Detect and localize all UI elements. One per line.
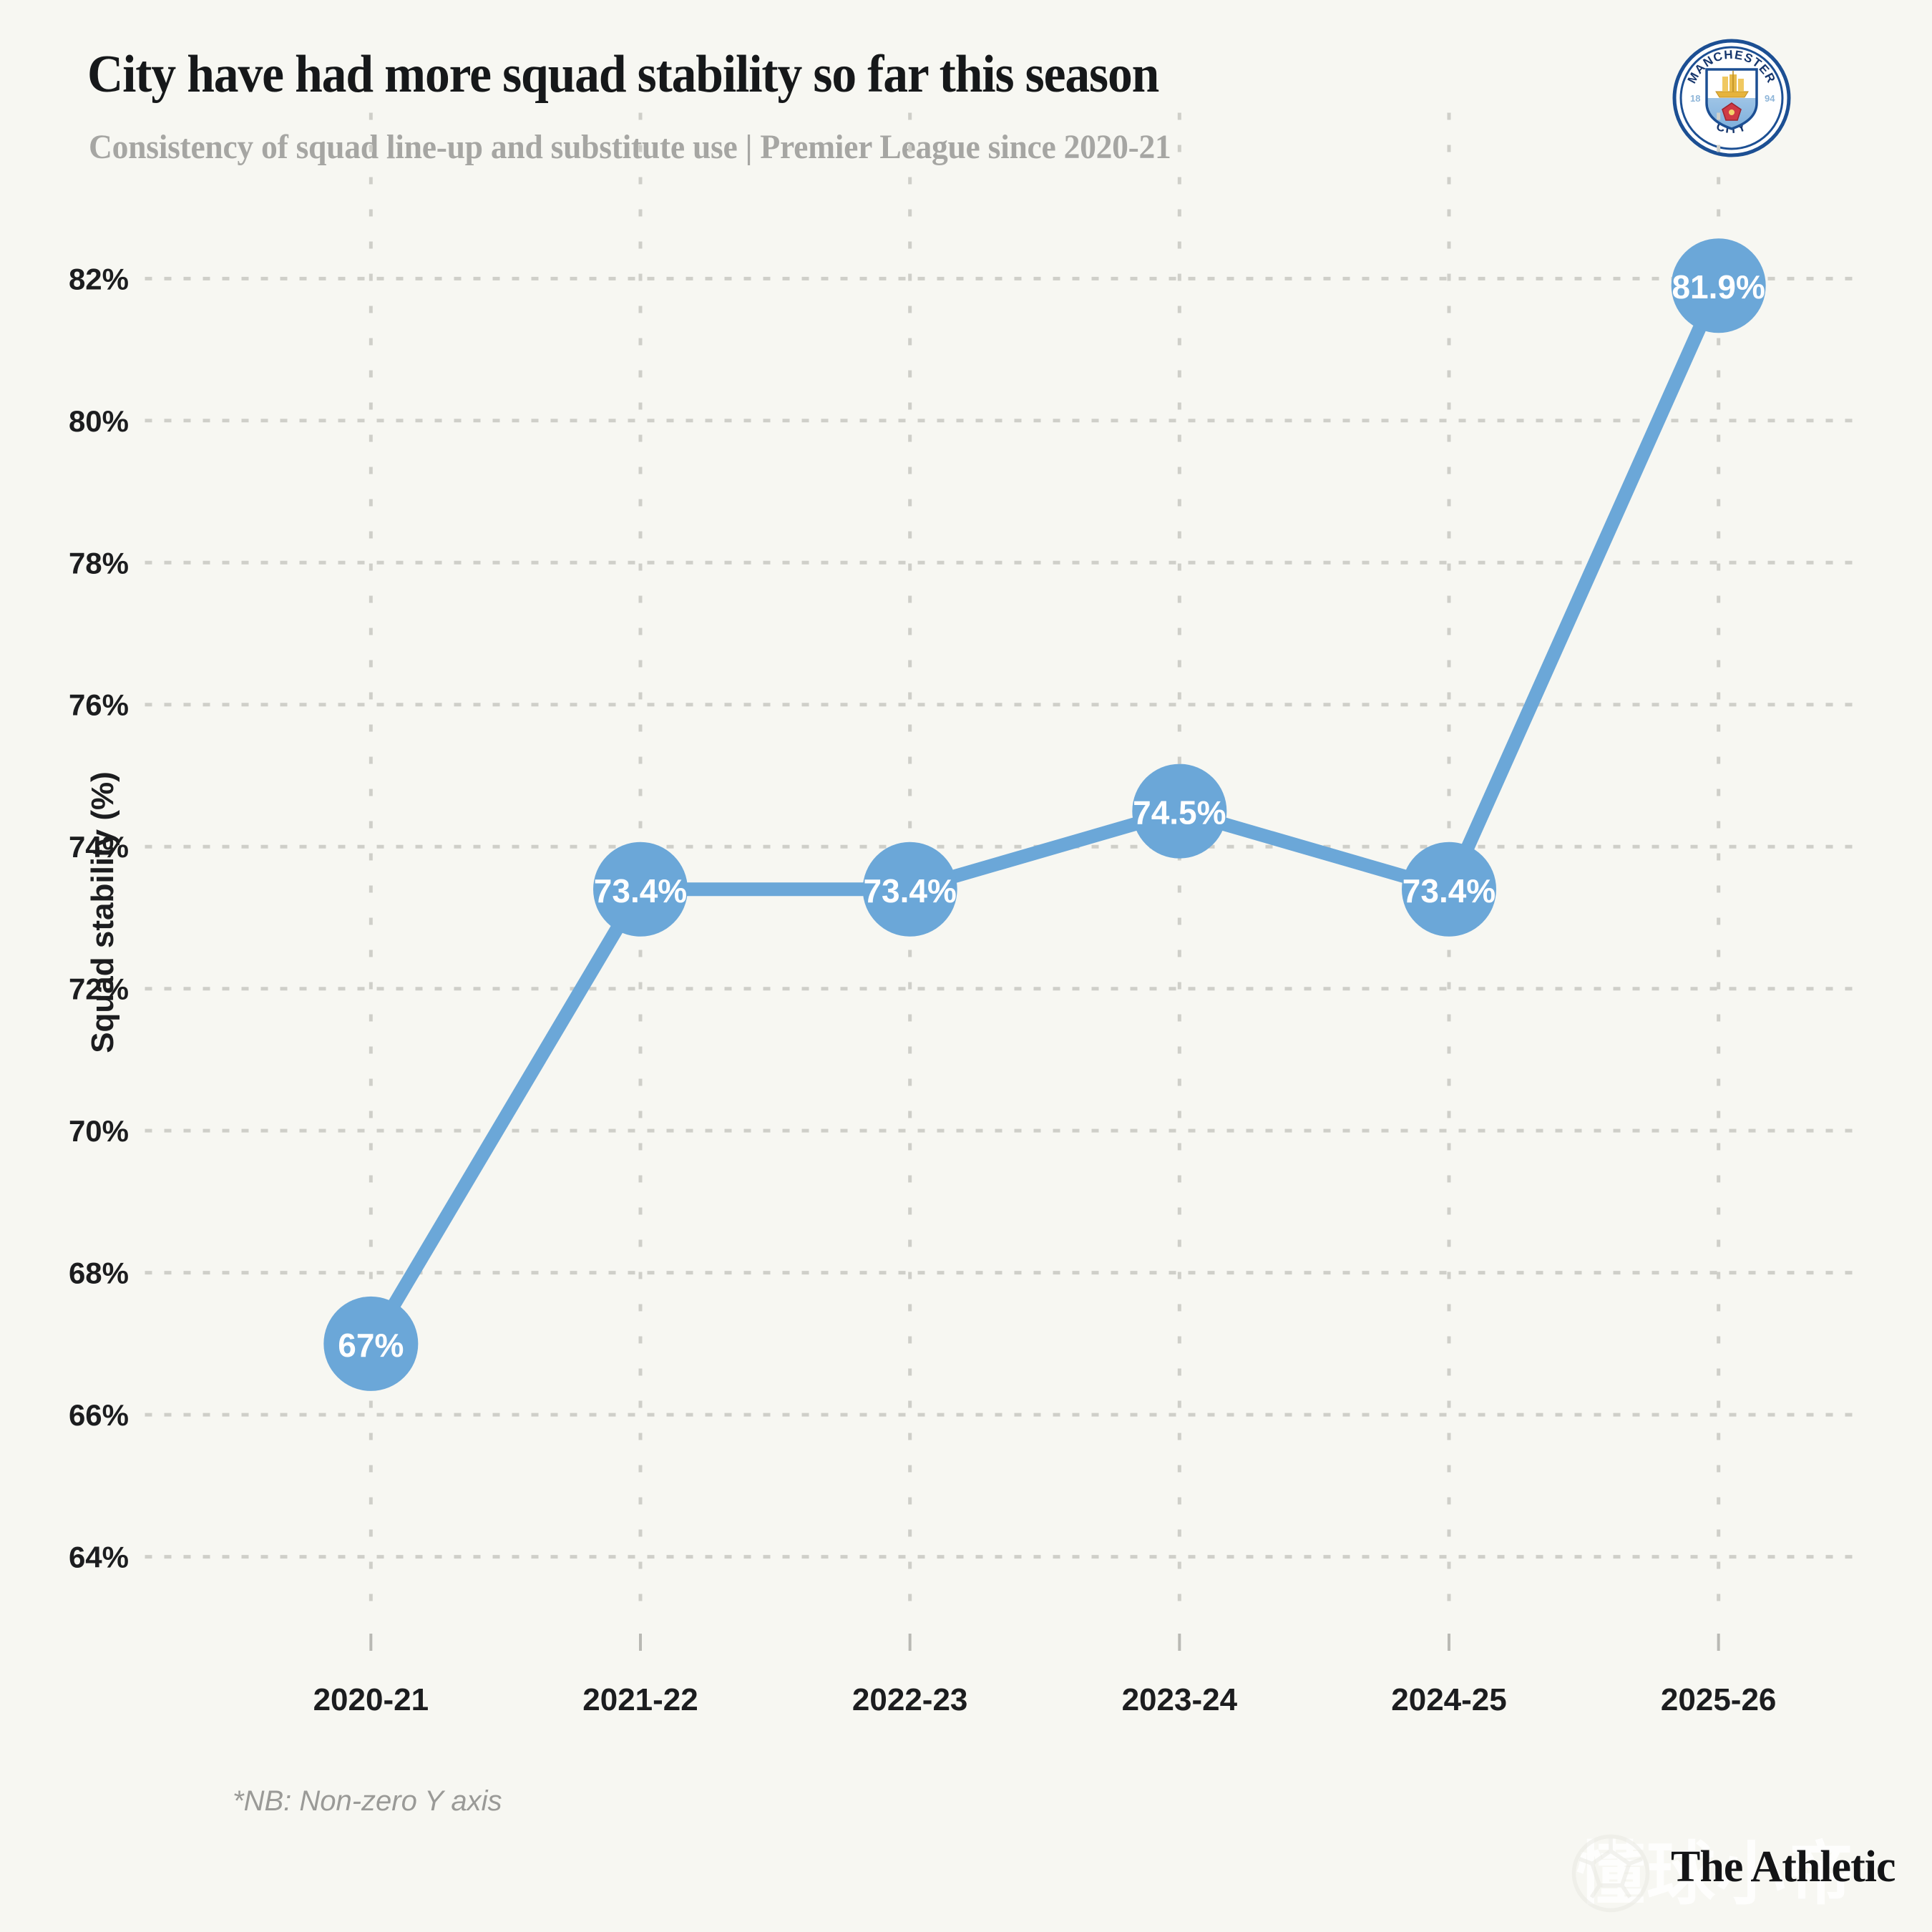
y-axis-title: Squad stability (%) <box>85 771 120 1053</box>
the-athletic-logo: The Athletic <box>1671 1842 1895 1893</box>
data-point-marker <box>323 1297 418 1391</box>
y-tick-label: 72% <box>69 972 129 1006</box>
chart-header: City have had more squad stability so fa… <box>0 0 1932 186</box>
data-point-label: 73.4% <box>1402 872 1496 909</box>
y-tick-label: 64% <box>69 1541 129 1574</box>
data-point-marker <box>863 842 957 937</box>
series-line-segment <box>394 927 618 1305</box>
chart-subtitle: Consistency of squad line-up and substit… <box>89 127 1171 167</box>
data-point-label: 74.5% <box>1133 794 1226 831</box>
data-point-label: 73.4% <box>863 872 956 909</box>
y-tick-label: 74% <box>69 830 129 864</box>
y-tick-label: 70% <box>69 1114 129 1148</box>
data-point-marker <box>593 842 688 937</box>
crest-year-left: 18 <box>1690 93 1700 104</box>
data-point-label: 81.9% <box>1672 268 1765 306</box>
x-tick-label: 2022-23 <box>852 1682 967 1717</box>
data-point-marker <box>1132 764 1226 859</box>
chart-footnote: *NB: Non-zero Y axis <box>233 1785 502 1818</box>
grid-lines <box>147 114 1853 1626</box>
data-point-label: 67% <box>338 1327 404 1364</box>
x-tick-label: 2023-24 <box>1122 1682 1238 1717</box>
data-point-label: 73.4% <box>594 872 687 909</box>
x-tick-label: 2020-21 <box>313 1682 429 1717</box>
series-line-segment <box>1467 326 1700 849</box>
x-tick-label: 2021-22 <box>582 1682 698 1717</box>
data-series <box>394 326 1700 1306</box>
football-icon <box>1571 1833 1651 1913</box>
y-tick-label: 78% <box>69 546 129 580</box>
crest-year-right: 94 <box>1765 93 1775 104</box>
data-point-marker <box>1672 238 1766 333</box>
chart-plot-area: 64%66%68%70%72%74%76%78%80%82%2020-21202… <box>0 0 1932 1932</box>
manchester-city-crest-icon: MANCHESTER CITY 18 94 <box>1671 37 1792 159</box>
y-tick-label: 80% <box>69 404 129 438</box>
data-markers: 67%73.4%73.4%74.5%73.4%81.9% <box>323 238 1765 1391</box>
y-tick-label: 82% <box>69 262 129 296</box>
series-line-segment <box>1222 824 1407 877</box>
page-title: City have had more squad stability so fa… <box>87 44 1158 105</box>
y-tick-label: 66% <box>69 1398 129 1432</box>
branding-block: 懂球小帝 The Athletic <box>1571 1832 1907 1918</box>
x-tick-label: 2025-26 <box>1661 1682 1776 1717</box>
x-tick-label: 2024-25 <box>1391 1682 1506 1717</box>
y-tick-label: 76% <box>69 688 129 722</box>
y-tick-label: 68% <box>69 1257 129 1290</box>
axis-labels: 64%66%68%70%72%74%76%78%80%82%2020-21202… <box>69 262 1776 1717</box>
series-line-segment <box>952 824 1137 877</box>
data-point-marker <box>1402 842 1496 937</box>
